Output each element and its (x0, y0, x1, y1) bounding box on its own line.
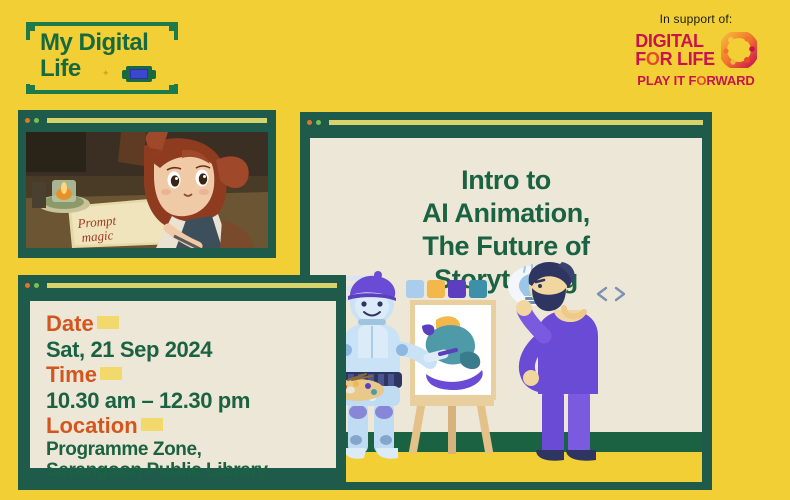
details-window-body: Date Sat, 21 Sep 2024 Time 10.30 am – 12… (30, 301, 336, 468)
svg-text:magic: magic (81, 227, 114, 245)
logo-notch-left (26, 40, 30, 84)
date-label-row: Date (46, 311, 119, 337)
window-dot-green-icon[interactable] (34, 283, 39, 288)
date-label: Date (46, 311, 94, 336)
photo-window-body: Prompt magic (26, 132, 268, 248)
sparkle-icon: ✦ (102, 68, 110, 79)
time-label-highlight (100, 367, 122, 380)
location-value-line-2: Serangoon Public Library (46, 460, 336, 482)
titlebar-progress-line (47, 283, 337, 288)
logo-line-1: My Digital (40, 30, 148, 56)
location-label-highlight (141, 418, 163, 431)
title-window: Intro to AI Animation, The Future of Sto… (300, 112, 712, 490)
photo-window: Prompt magic (18, 110, 276, 258)
date-value: Sat, 21 Sep 2024 (46, 337, 336, 363)
details-window-titlebar (18, 275, 346, 295)
date-label-highlight (97, 316, 119, 329)
window-dot-orange-icon[interactable] (307, 120, 312, 125)
handheld-console-icon (122, 65, 156, 83)
dfl-line-2: FOR LIFE (635, 50, 715, 68)
window-dot-green-icon[interactable] (316, 120, 321, 125)
digital-for-life-block: In support of: DIGITAL FOR LIFE (616, 12, 776, 88)
titlebar-progress-line (329, 120, 703, 125)
photo-window-titlebar (18, 110, 276, 130)
my-digital-life-logo: My Digital Life ✦ (26, 22, 178, 94)
logo-corner-bottom-left (26, 85, 35, 94)
dfl-wordmark: DIGITAL FOR LIFE (635, 32, 715, 68)
window-dot-orange-icon[interactable] (25, 283, 30, 288)
swirl-circle-logo-icon (721, 32, 757, 68)
color-palette-swatches (406, 280, 487, 298)
anime-scene-illustration: Prompt magic (26, 132, 268, 248)
in-support-of-label: In support of: (616, 12, 776, 26)
title-window-titlebar (300, 112, 712, 132)
time-label-row: Time (46, 362, 122, 388)
logo-corner-top-right (169, 22, 178, 31)
title-line-3: The Future of (310, 230, 702, 263)
logo-notch-right (174, 40, 178, 84)
ai-artist-illustration (310, 262, 702, 482)
title-line-2: AI Animation, (310, 197, 702, 230)
easel (409, 300, 496, 454)
location-value-line-1: Programme Zone, (46, 439, 336, 461)
title-line-1: Intro to (310, 164, 702, 197)
location-label-row: Location (46, 413, 163, 439)
time-value: 10.30 am – 12.30 pm (46, 388, 336, 414)
titlebar-progress-line (47, 118, 267, 123)
window-dot-green-icon[interactable] (34, 118, 39, 123)
window-dot-orange-icon[interactable] (25, 118, 30, 123)
dfl-line-1: DIGITAL (635, 32, 715, 50)
poster-canvas: My Digital Life ✦ In support of: DIGITAL… (0, 0, 790, 500)
code-brackets-icon (598, 288, 624, 300)
time-label: Time (46, 362, 97, 387)
digital-for-life-logo: DIGITAL FOR LIFE (616, 32, 776, 68)
dfl-tagline: PLAY IT FORWARD (616, 73, 776, 88)
location-label: Location (46, 413, 138, 438)
title-window-body: Intro to AI Animation, The Future of Sto… (310, 138, 702, 482)
details-window: Date Sat, 21 Sep 2024 Time 10.30 am – 12… (18, 275, 346, 490)
